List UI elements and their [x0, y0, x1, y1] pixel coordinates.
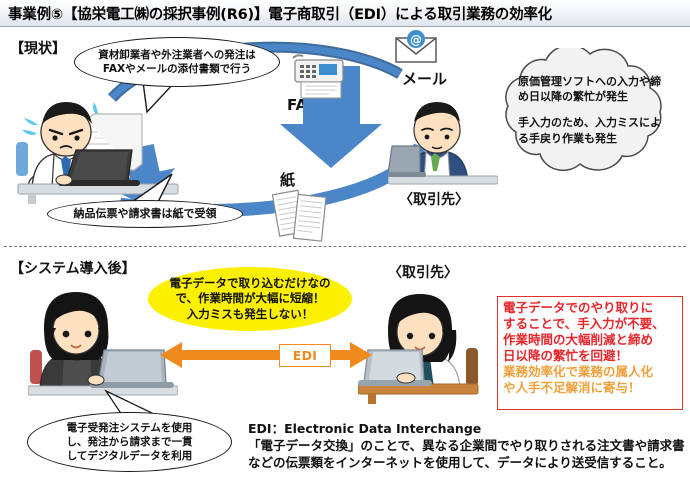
problem-item-0: 原価管理ソフトへの入力や締め日以降の繁忙が発生 — [518, 74, 664, 104]
mail-envelope-icon: @ — [394, 30, 438, 64]
benefit-line-4: 業務効率化で業務の属人化 — [503, 364, 678, 380]
smiling-office-worker-icon — [358, 288, 500, 404]
section-label-after: 【システム導入後】 — [10, 258, 136, 278]
benefit-line-3: 日以降の繁忙を回避！ — [503, 348, 678, 364]
speech-bubble-order: 資材卸業者や外注業者への発注は FAXやメールの添付書類で行う — [74, 37, 280, 87]
edi-connector-box: EDI — [279, 344, 331, 367]
partner-label-after: 〈取引先〉 — [388, 262, 458, 282]
edi-definition: EDI：Electronic Data Interchange 「電子データ交換… — [248, 421, 688, 472]
speech-bubble-digital-text: 電子受発注システムを使用 し、発注から請求まで一貫 してデジタルデータを利用 — [67, 421, 193, 464]
svg-text:@: @ — [410, 33, 422, 47]
edi-definition-english: EDI：Electronic Data Interchange — [248, 421, 688, 437]
speech-bubble-digital: 電子受発注システムを使用 し、発注から請求まで一貫 してデジタルデータを利用 — [27, 412, 232, 472]
benefit-line-1: することで、手入力が不要、 — [503, 316, 678, 332]
title-bar: 事業例⑤【協栄電工㈱の採択事例(R6)】電子商取引（EDI）による取引業務の効率… — [0, 0, 690, 27]
benefit-line-0: 電子データでのやり取りに — [503, 300, 678, 316]
highlight-callout-text: 電子データで取り込むだけなの で、作業時間が大幅に短縮！ 入力ミスも発生しない！ — [170, 276, 331, 323]
edi-connector-label: EDI — [293, 348, 317, 363]
slide-canvas: 事業例⑤【協栄電工㈱の採択事例(R6)】電子商取引（EDI）による取引業務の効率… — [0, 0, 690, 488]
edi-definition-japanese: 「電子データ交換」のことで、異なる企業間でやり取りされる注文書や請求書 などの伝… — [248, 438, 688, 472]
benefit-box: 電子データでのやり取りに することで、手入力が不要、 作業時間の大幅削減と締め … — [497, 296, 683, 410]
problem-cloud-bubble: 原価管理ソフトへの入力や締め日以降の繁忙が発生 手入力のため、入力ミスによる手戻… — [492, 48, 684, 190]
speech-bubble-receipt: 納品伝票や請求書は紙で受領 — [47, 200, 243, 228]
benefit-line-2: 作業時間の大幅削減と締め — [503, 332, 678, 348]
page-title: 事業例⑤【協栄電工㈱の採択事例(R6)】電子商取引（EDI）による取引業務の効率… — [8, 3, 552, 24]
paper-documents-icon — [272, 186, 334, 242]
tired-businessman-icon — [388, 92, 498, 188]
speech-bubble-receipt-text: 納品伝票や請求書は紙で受領 — [74, 207, 217, 220]
problem-item-1: 手入力のため、入力ミスによる手戻り作業も発生 — [518, 115, 664, 145]
edi-bidirectional-arrow — [160, 338, 372, 372]
benefit-line-5: や人手不足解消に寄与！ — [503, 380, 678, 396]
highlight-callout: 電子データで取り込むだけなの で、作業時間が大幅に短縮！ 入力ミスも発生しない！ — [148, 267, 352, 331]
fax-machine-icon — [289, 52, 351, 102]
speech-bubble-order-text: 資材卸業者や外注業者への発注は FAXやメールの添付書類で行う — [98, 48, 256, 76]
problem-cloud-text: 原価管理ソフトへの入力や締め日以降の繁忙が発生 手入力のため、入力ミスによる手戻… — [518, 74, 664, 146]
